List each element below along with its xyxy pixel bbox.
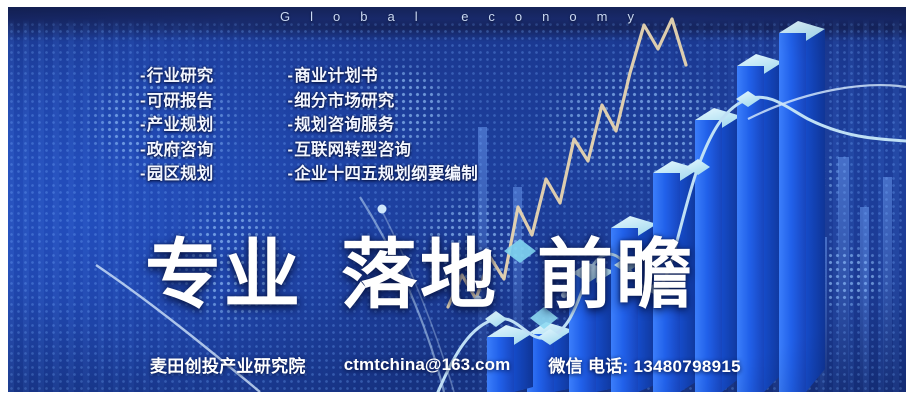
footer-contact-bar: 麦田创投产业研究院 ctmtchina@163.com 微信 电话: 13480… xyxy=(150,352,888,377)
email-address[interactable]: ctmtchina@163.com xyxy=(344,355,511,375)
service-list-right: -商业计划书 -细分市场研究 -规划咨询服务 -互联网转型咨询 -企业十四五规划… xyxy=(288,64,478,187)
bullet-dash: - xyxy=(288,116,294,134)
list-item: -可研报告 xyxy=(140,89,214,114)
bullet-dash: - xyxy=(140,141,146,159)
service-label: 政府咨询 xyxy=(147,141,214,159)
service-label: 产业规划 xyxy=(147,116,214,134)
list-item: -行业研究 xyxy=(140,64,214,89)
bar-6 xyxy=(737,54,783,392)
list-item: -政府咨询 xyxy=(140,138,214,163)
bullet-dash: - xyxy=(288,141,294,159)
service-label: 商业计划书 xyxy=(294,67,378,85)
bullet-dash: - xyxy=(288,67,294,85)
bullet-dash: - xyxy=(140,116,146,134)
service-label: 行业研究 xyxy=(147,67,214,85)
headline-word-2: 落地 xyxy=(341,238,499,316)
wordmark-global-economy: Global economy xyxy=(8,9,906,24)
list-item: -规划咨询服务 xyxy=(288,113,478,138)
bullet-dash: - xyxy=(140,67,146,85)
service-lists: -行业研究 -可研报告 -产业规划 -政府咨询 -园区规划 -商业计划书 xyxy=(140,64,478,187)
list-item: -细分市场研究 xyxy=(288,89,478,114)
list-item: -商业计划书 xyxy=(288,64,478,89)
list-item: -园区规划 xyxy=(140,162,214,187)
service-label: 细分市场研究 xyxy=(294,92,394,110)
headline-word-1: 专业 xyxy=(145,238,303,316)
service-list-left: -行业研究 -可研报告 -产业规划 -政府咨询 -园区规划 xyxy=(140,64,214,187)
service-label: 可研报告 xyxy=(147,92,214,110)
service-label: 企业十四五规划纲要编制 xyxy=(294,165,478,183)
bullet-dash: - xyxy=(288,165,294,183)
service-label: 规划咨询服务 xyxy=(294,116,394,134)
service-label: 互联网转型咨询 xyxy=(294,141,411,159)
bullet-dash: - xyxy=(140,165,146,183)
bullet-dash: - xyxy=(288,92,294,110)
list-item: -互联网转型咨询 xyxy=(288,138,478,163)
list-item: -企业十四五规划纲要编制 xyxy=(288,162,478,187)
bar-5 xyxy=(695,108,741,392)
company-name: 麦田创投产业研究院 xyxy=(150,352,306,377)
bar-7 xyxy=(779,21,825,392)
contact-phone: 微信 电话: 13480798915 xyxy=(548,352,741,377)
promo-banner: Global economy -行业研究 -可研报告 -产业规划 -政府咨询 -… xyxy=(0,0,915,400)
service-label: 园区规划 xyxy=(147,165,214,183)
list-item: -产业规划 xyxy=(140,113,214,138)
headline-word-3: 前瞻 xyxy=(537,238,695,316)
bullet-dash: - xyxy=(140,92,146,110)
banner-canvas: Global economy -行业研究 -可研报告 -产业规划 -政府咨询 -… xyxy=(8,7,906,392)
headline: 专业 落地 前瞻 xyxy=(145,238,695,316)
